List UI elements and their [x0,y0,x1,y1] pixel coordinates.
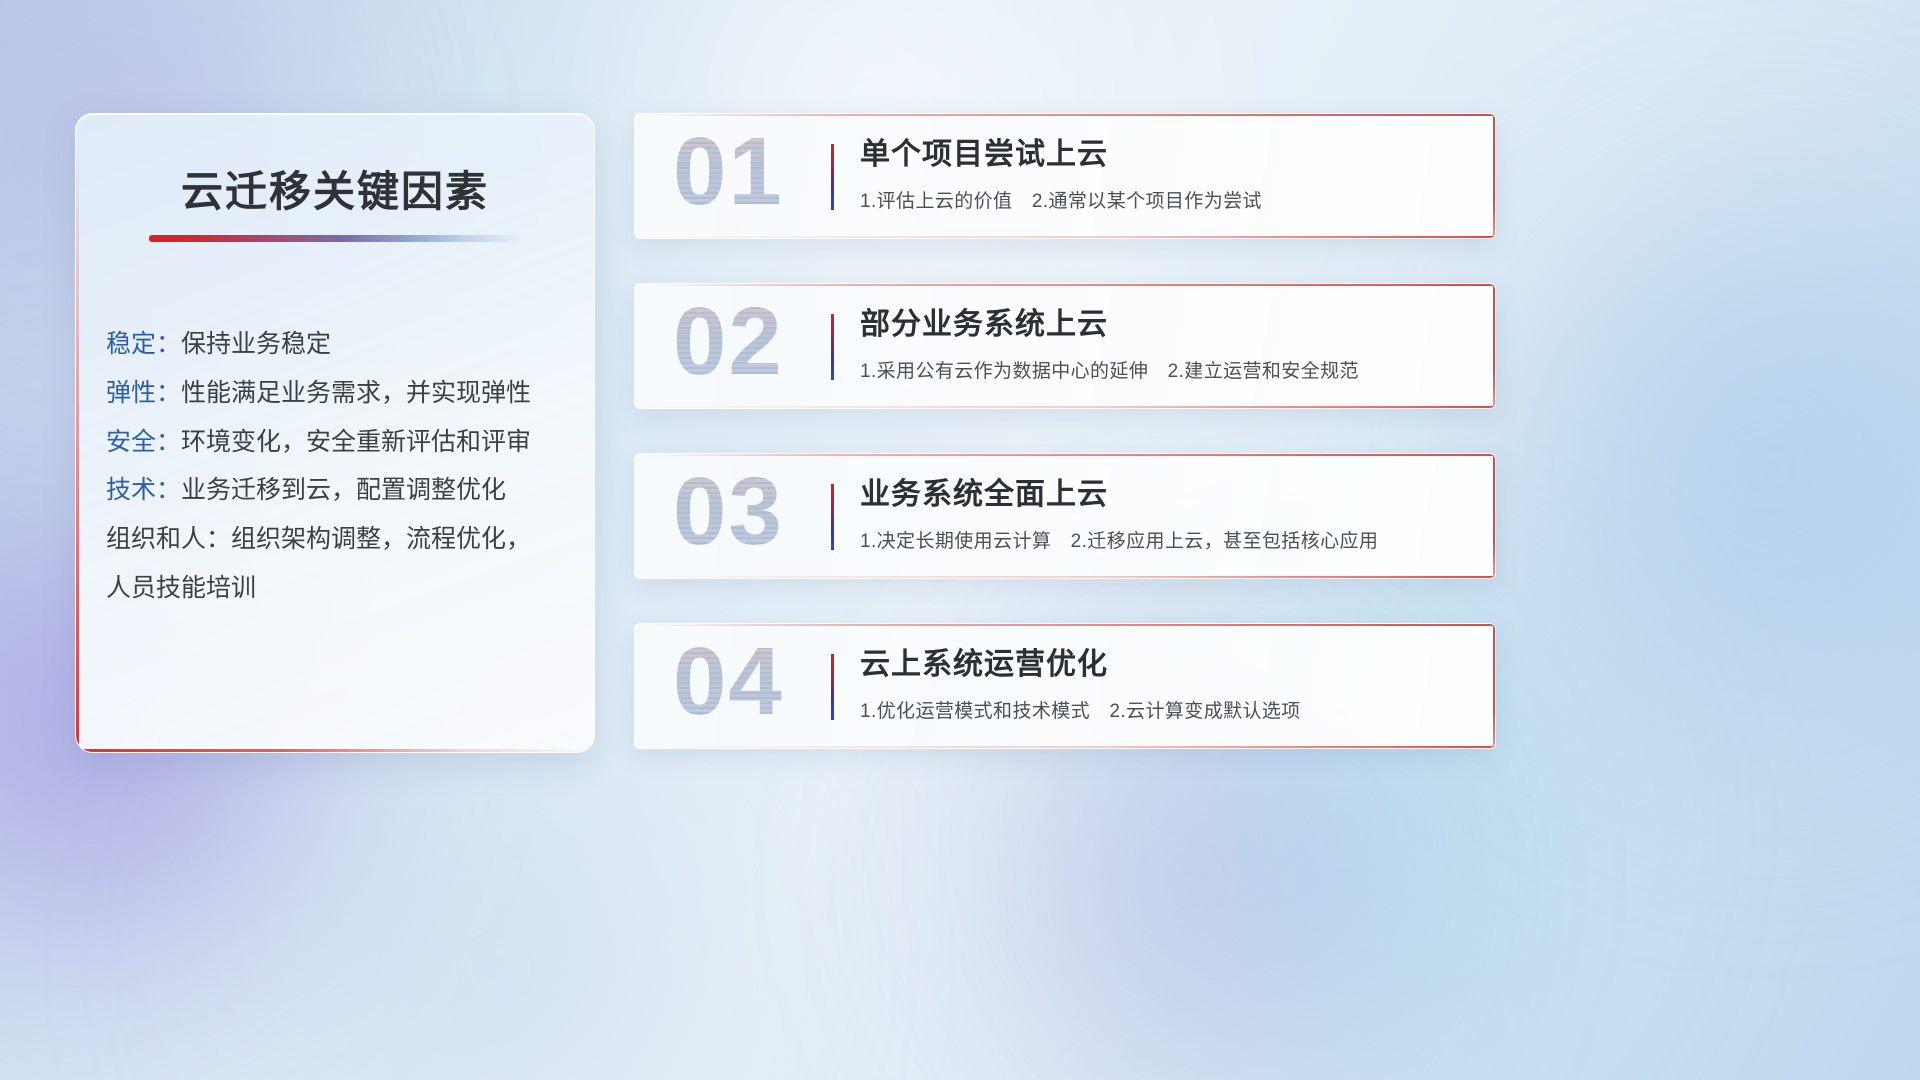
stage-title: 云上系统运营优化 [860,646,1465,684]
factor-item: 弹性：性能满足业务需求，并实现弹性 [106,369,594,418]
stage-description: 1.评估上云的价值 2.通常以某个项目作为尝试 [860,186,1465,213]
stage-content: 单个项目尝试上云 1.评估上云的价值 2.通常以某个项目作为尝试 [860,136,1465,213]
stage-number: 02 [673,283,784,402]
stage-title: 部分业务系统上云 [860,306,1465,344]
factor-label: 弹性： [106,379,181,407]
page-title: 云迁移关键因素 [76,158,594,219]
stage-card-02[interactable]: 02 部分业务系统上云 1.采用公有云作为数据中心的延伸 2.建立运营和安全规范 [634,283,1496,409]
stage-description: 1.采用公有云作为数据中心的延伸 2.建立运营和安全规范 [860,356,1465,383]
factor-label: 安全： [106,428,181,456]
factor-text: 保持业务稳定 [181,330,331,358]
stage-card-01[interactable]: 01 单个项目尝试上云 1.评估上云的价值 2.通常以某个项目作为尝试 [634,113,1496,239]
factor-text: 组织架构调整，流程优化， [231,525,531,553]
card-bottom-accent [635,746,1495,748]
factor-text: 性能满足业务需求，并实现弹性 [181,379,531,407]
factor-item: 组织和人：组织架构调整，流程优化， [106,515,594,564]
factor-list: 稳定：保持业务稳定 弹性：性能满足业务需求，并实现弹性 安全：环境变化，安全重新… [106,320,594,613]
stage-card-list: 01 单个项目尝试上云 1.评估上云的价值 2.通常以某个项目作为尝试 02 部… [634,113,1866,793]
stage-content: 业务系统全面上云 1.决定长期使用云计算 2.迁移应用上云，甚至包括核心应用 [860,476,1465,553]
stage-divider-bar [831,654,834,720]
stage-title: 业务系统全面上云 [860,476,1465,514]
stage-description: 1.决定长期使用云计算 2.迁移应用上云，甚至包括核心应用 [860,526,1465,553]
card-bottom-accent [635,576,1495,578]
stage-divider-bar [831,144,834,210]
factor-label: 技术： [106,476,181,504]
stage-title: 单个项目尝试上云 [860,136,1465,174]
stage-content: 云上系统运营优化 1.优化运营模式和技术模式 2.云计算变成默认选项 [860,646,1465,723]
key-factors-panel: 云迁移关键因素 稳定：保持业务稳定 弹性：性能满足业务需求，并实现弹性 安全：环… [75,113,595,753]
stage-number: 01 [673,113,784,232]
stage-divider-bar [831,314,834,380]
stage-number: 03 [673,453,784,572]
stage-description: 1.优化运营模式和技术模式 2.云计算变成默认选项 [860,696,1465,723]
factor-text: 环境变化，安全重新评估和评审 [181,428,531,456]
factor-item: 安全：环境变化，安全重新评估和评审 [106,418,594,467]
factor-item-continuation: 人员技能培训 [106,564,594,613]
stage-number: 04 [673,623,784,742]
stage-divider-bar [831,484,834,550]
card-bottom-accent [635,236,1495,238]
title-underline-accent [149,235,521,242]
stage-card-03[interactable]: 03 业务系统全面上云 1.决定长期使用云计算 2.迁移应用上云，甚至包括核心应… [634,453,1496,579]
card-bottom-accent [635,406,1495,408]
factor-label: 组织和人： [106,525,231,553]
factor-label: 稳定： [106,330,181,358]
factor-item: 技术：业务迁移到云，配置调整优化 [106,466,594,515]
stage-card-04[interactable]: 04 云上系统运营优化 1.优化运营模式和技术模式 2.云计算变成默认选项 [634,623,1496,749]
factor-text: 业务迁移到云，配置调整优化 [181,476,506,504]
stage-content: 部分业务系统上云 1.采用公有云作为数据中心的延伸 2.建立运营和安全规范 [860,306,1465,383]
factor-text: 人员技能培训 [106,574,256,602]
factor-item: 稳定：保持业务稳定 [106,320,594,369]
